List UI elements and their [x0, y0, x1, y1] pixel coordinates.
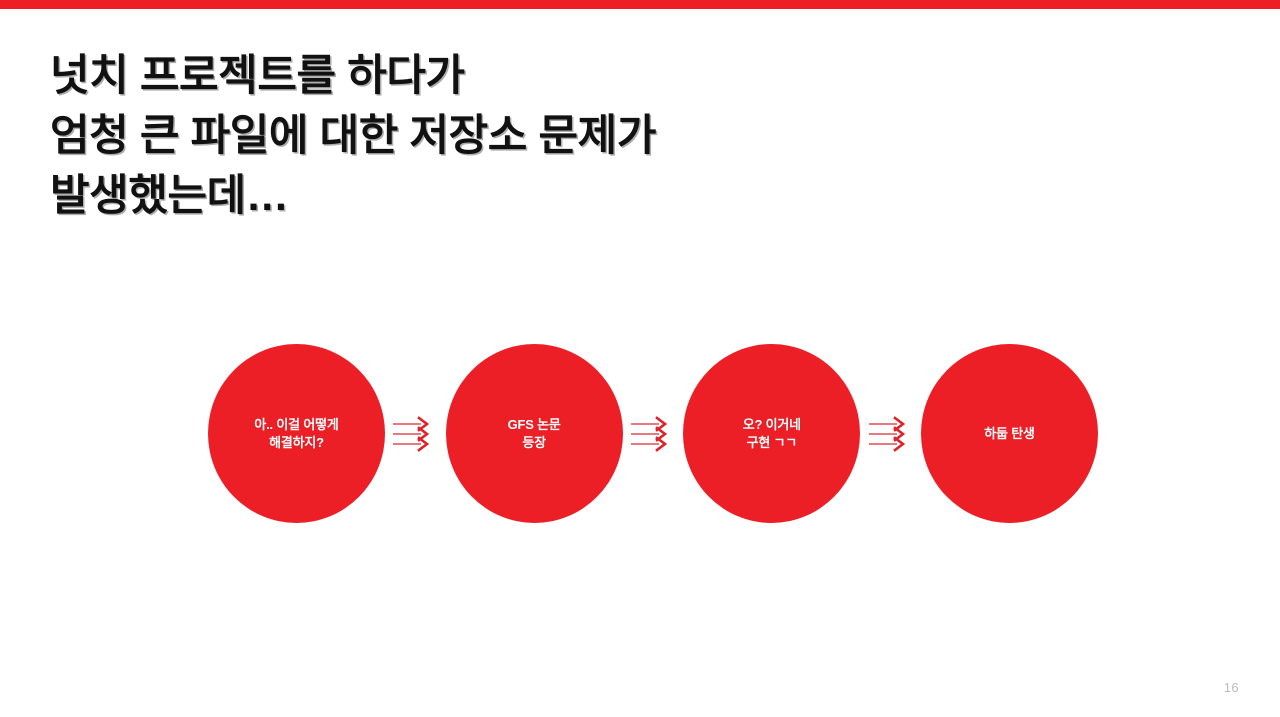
title-line-3: 발생했는데… — [50, 166, 1150, 226]
flow-connector-3 — [860, 414, 921, 454]
flow-node-1[interactable]: 아.. 이걸 어떻게 해결하지? — [208, 344, 385, 523]
triple-arrow-icon — [631, 417, 675, 451]
flow-row: 아.. 이걸 어떻게 해결하지? GFS 논 — [208, 341, 1098, 526]
flow-node-2-label: GFS 논문 등장 — [508, 416, 561, 452]
flow-node-3-label: 오? 이거네 구현 ㄱㄱ — [743, 416, 801, 452]
flow-node-1-label: 아.. 이걸 어떻게 해결하지? — [254, 416, 338, 452]
flow-connector-1 — [385, 414, 446, 454]
triple-arrow-icon — [869, 417, 913, 451]
flow-connector-2 — [623, 414, 684, 454]
slide-canvas: 넛치 프로젝트를 하다가 엄청 큰 파일에 대한 저장소 문제가 발생했는데… … — [0, 0, 1280, 717]
top-accent-bar — [0, 0, 1280, 9]
process-flow-diagram: 아.. 이걸 어떻게 해결하지? GFS 논 — [208, 341, 1098, 526]
flow-node-2[interactable]: GFS 논문 등장 — [446, 344, 623, 523]
flow-node-4-label: 하둡 탄생 — [984, 425, 1034, 443]
title-line-1: 넛치 프로젝트를 하다가 — [50, 46, 1150, 106]
title-line-2: 엄청 큰 파일에 대한 저장소 문제가 — [50, 106, 1150, 166]
triple-arrow-icon — [393, 417, 437, 451]
page-title: 넛치 프로젝트를 하다가 엄청 큰 파일에 대한 저장소 문제가 발생했는데… — [50, 46, 1150, 226]
flow-node-3[interactable]: 오? 이거네 구현 ㄱㄱ — [683, 344, 860, 523]
page-number: 16 — [1224, 680, 1239, 695]
flow-node-4[interactable]: 하둡 탄생 — [921, 344, 1098, 523]
